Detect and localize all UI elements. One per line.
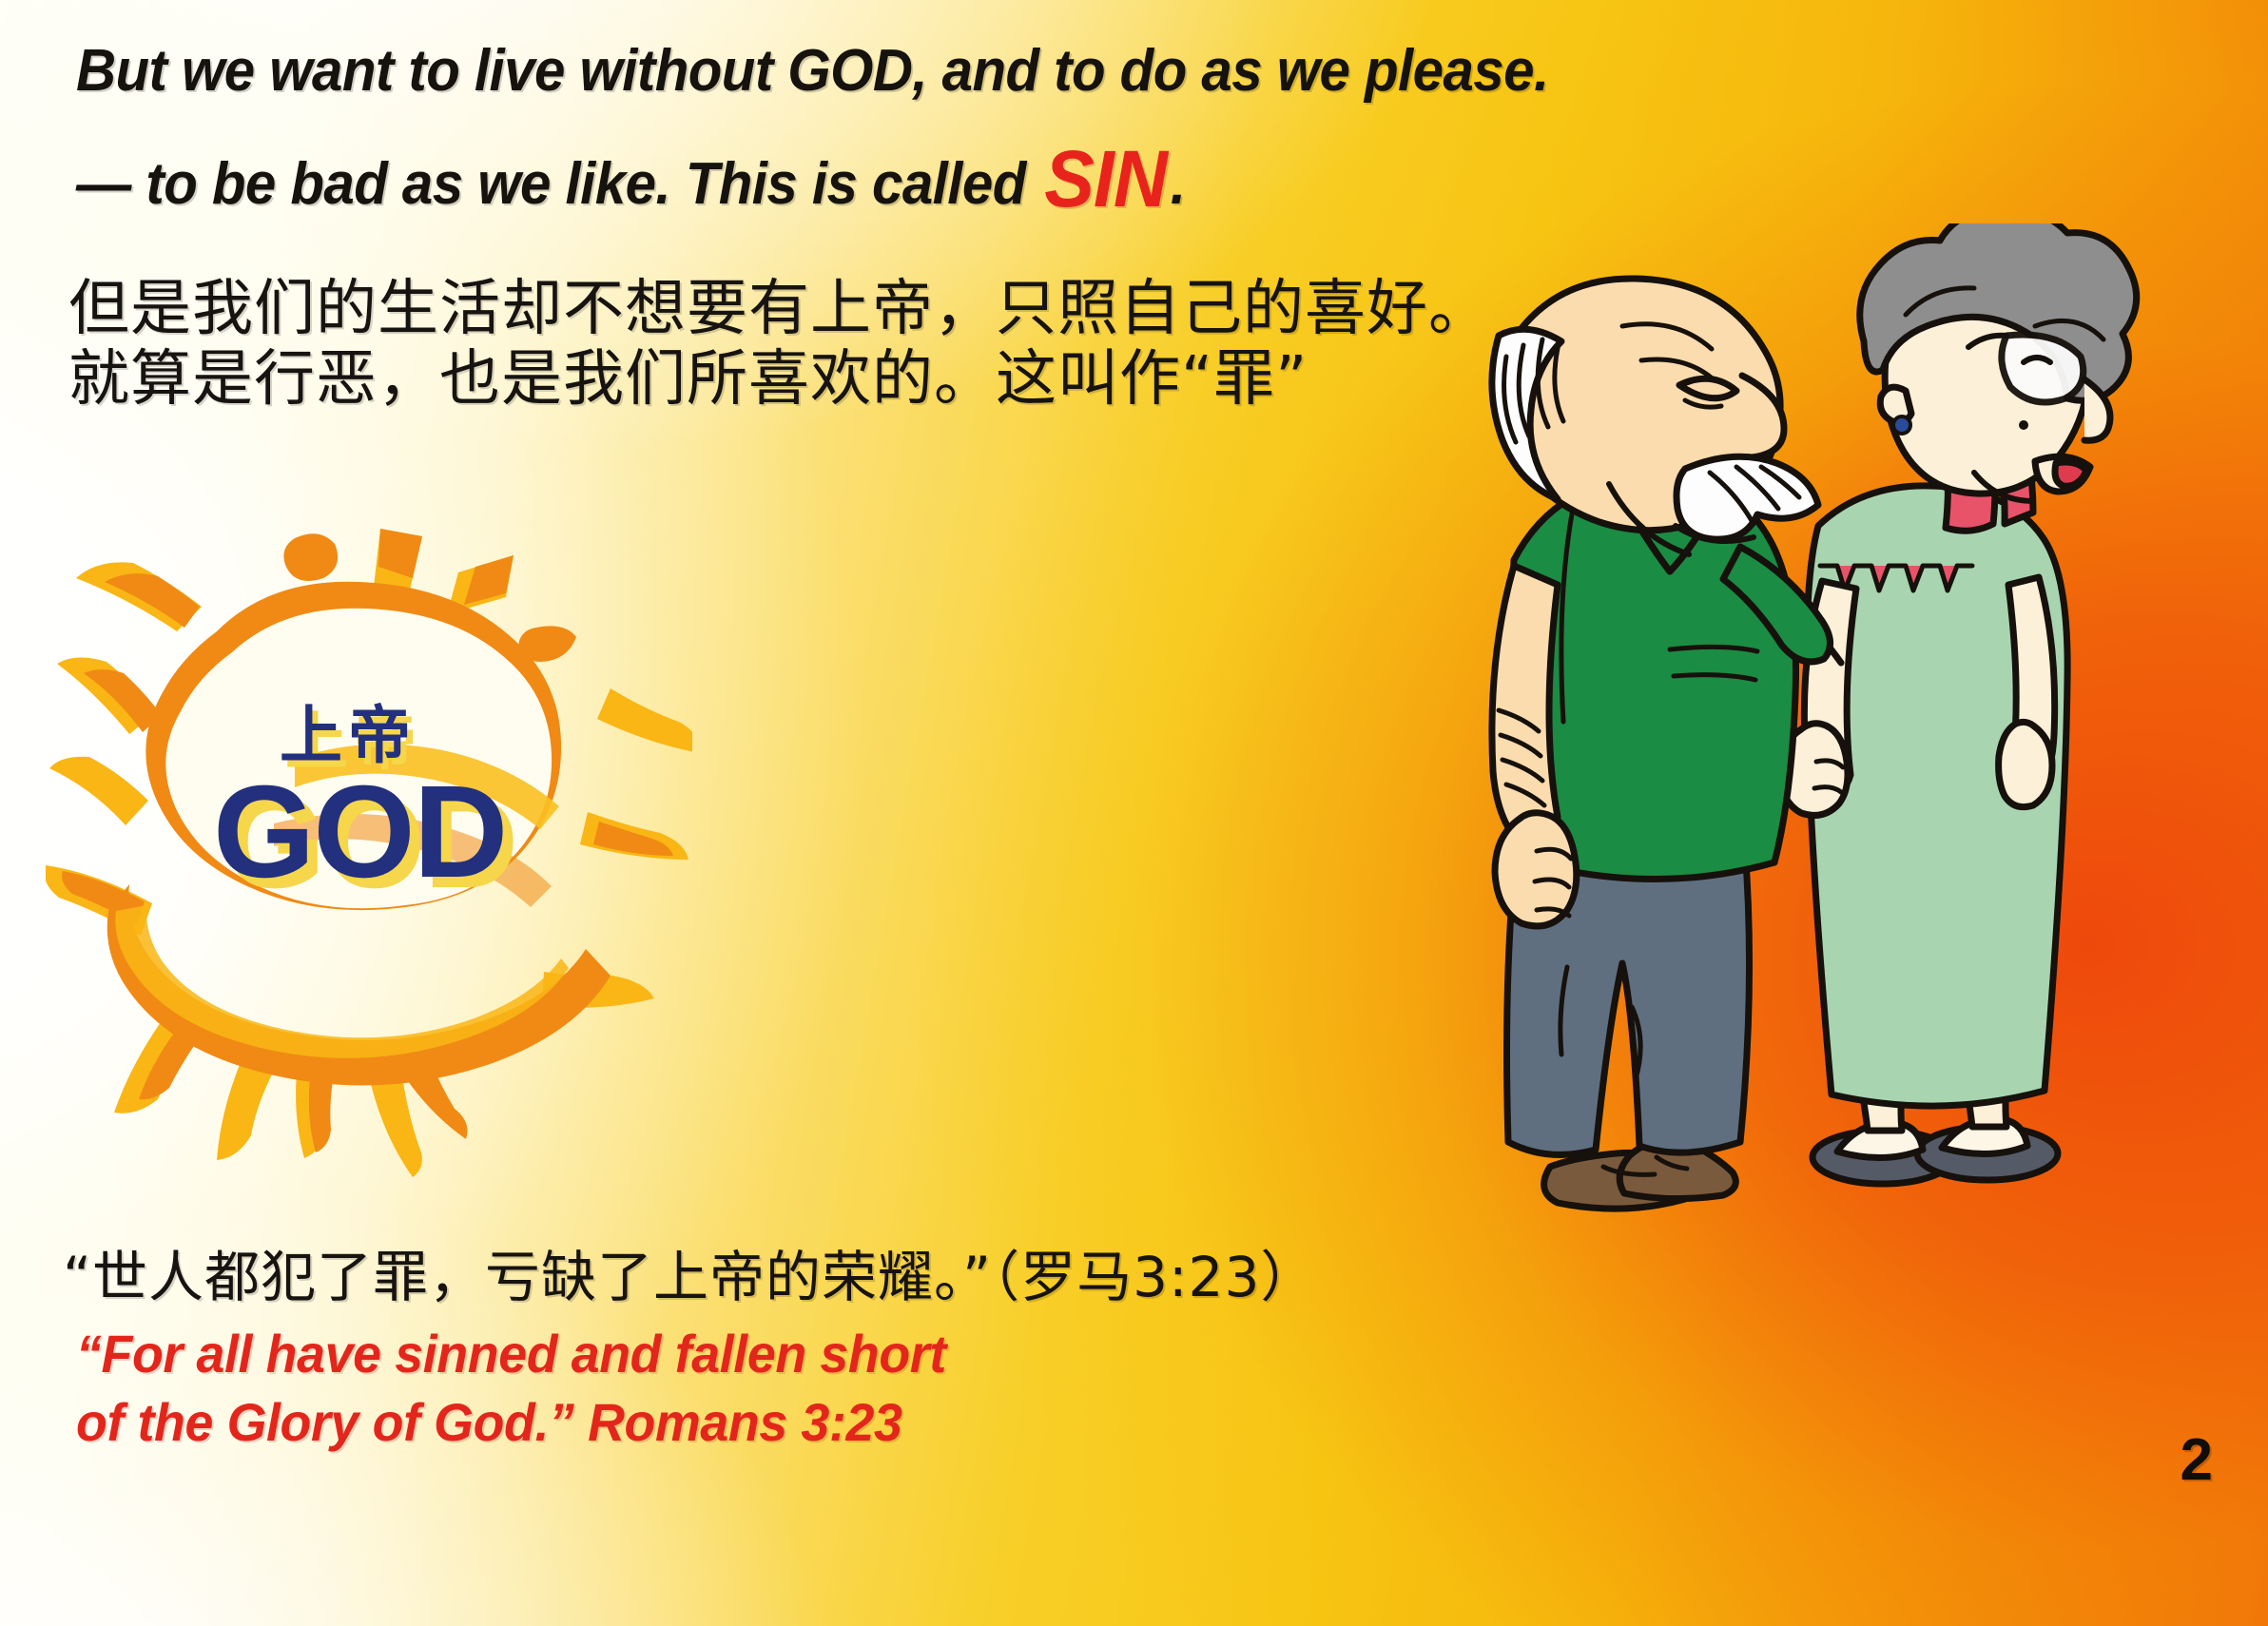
chinese-body-line-2: 就算是行恶，也是我们所喜欢的。这叫作“罪” xyxy=(68,344,1638,415)
god-logo-text: 上帝 GOD xyxy=(46,521,692,1177)
man-figure xyxy=(1492,279,1841,1209)
chinese-body-block: 但是我们的生活却不想要有上帝，只照自己的喜好。 就算是行恶，也是我们所喜欢的。这… xyxy=(68,274,1638,415)
sin-emphasis-word: SIN xyxy=(1040,134,1170,223)
god-burst-logo: 上帝 GOD xyxy=(46,521,692,1177)
chinese-scripture-verse: “世人都犯了罪，亏缺了上帝的荣耀。”（罗马3:23） xyxy=(63,1232,1316,1312)
headline-line-2-prefix: — to be bad as we like. This is called xyxy=(76,151,1040,217)
headline-line-2-suffix: . xyxy=(1171,151,1186,217)
god-logo-english: GOD xyxy=(213,757,506,908)
english-scripture-block: “For all have sinned and fallen short of… xyxy=(76,1320,1598,1456)
english-scripture-line-2: of the Glory of God.” Romans 3:23 xyxy=(76,1388,1537,1457)
chinese-body-line-1: 但是我们的生活却不想要有上帝，只照自己的喜好。 xyxy=(68,274,1638,344)
headline-line-2: — to be bad as we like. This is called S… xyxy=(76,139,2079,219)
couple-svg xyxy=(1407,223,2206,1260)
elderly-couple-illustration xyxy=(1407,223,2206,1260)
headline-block: But we want to live without GOD, and to … xyxy=(76,42,2206,219)
page-number: 2 xyxy=(2181,1426,2213,1494)
tract-page: But we want to live without GOD, and to … xyxy=(0,0,2268,1626)
headline-line-1: But we want to live without GOD, and to … xyxy=(76,42,2079,101)
english-scripture-line-1: “For all have sinned and fallen short xyxy=(76,1320,1537,1388)
woman-figure xyxy=(1780,223,2137,1184)
